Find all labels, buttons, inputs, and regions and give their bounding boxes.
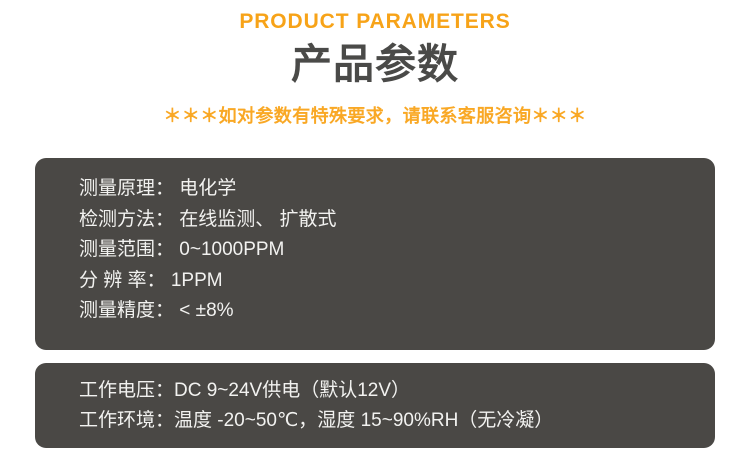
spec-row: 分 辨 率： 1PPM	[79, 266, 715, 297]
primary-specs-panel: 测量原理： 电化学 检测方法： 在线监测、 扩散式 测量范围： 0~1000PP…	[35, 158, 715, 350]
spec-row: 测量精度： < ±8%	[79, 296, 715, 327]
page-subtitle-note: ＊＊＊如对参数有特殊要求，请联系客服咨询＊＊＊	[0, 104, 750, 128]
spec-row: 测量原理： 电化学	[79, 174, 715, 205]
spec-row: 测量范围： 0~1000PPM	[79, 235, 715, 266]
page-title: 产品参数	[0, 38, 750, 90]
spec-row: 工作环境：温度 -20~50℃，湿度 15~90%RH（无冷凝）	[79, 406, 715, 436]
product-parameters-page: PRODUCT PARAMETERS 产品参数 ＊＊＊如对参数有特殊要求，请联系…	[0, 0, 750, 476]
page-header: PRODUCT PARAMETERS 产品参数 ＊＊＊如对参数有特殊要求，请联系…	[0, 0, 750, 128]
spec-row: 检测方法： 在线监测、 扩散式	[79, 205, 715, 236]
eyebrow-heading: PRODUCT PARAMETERS	[0, 9, 750, 35]
spec-row: 工作电压：DC 9~24V供电（默认12V）	[79, 376, 715, 406]
environment-specs-panel: 工作电压：DC 9~24V供电（默认12V） 工作环境：温度 -20~50℃，湿…	[35, 363, 715, 448]
